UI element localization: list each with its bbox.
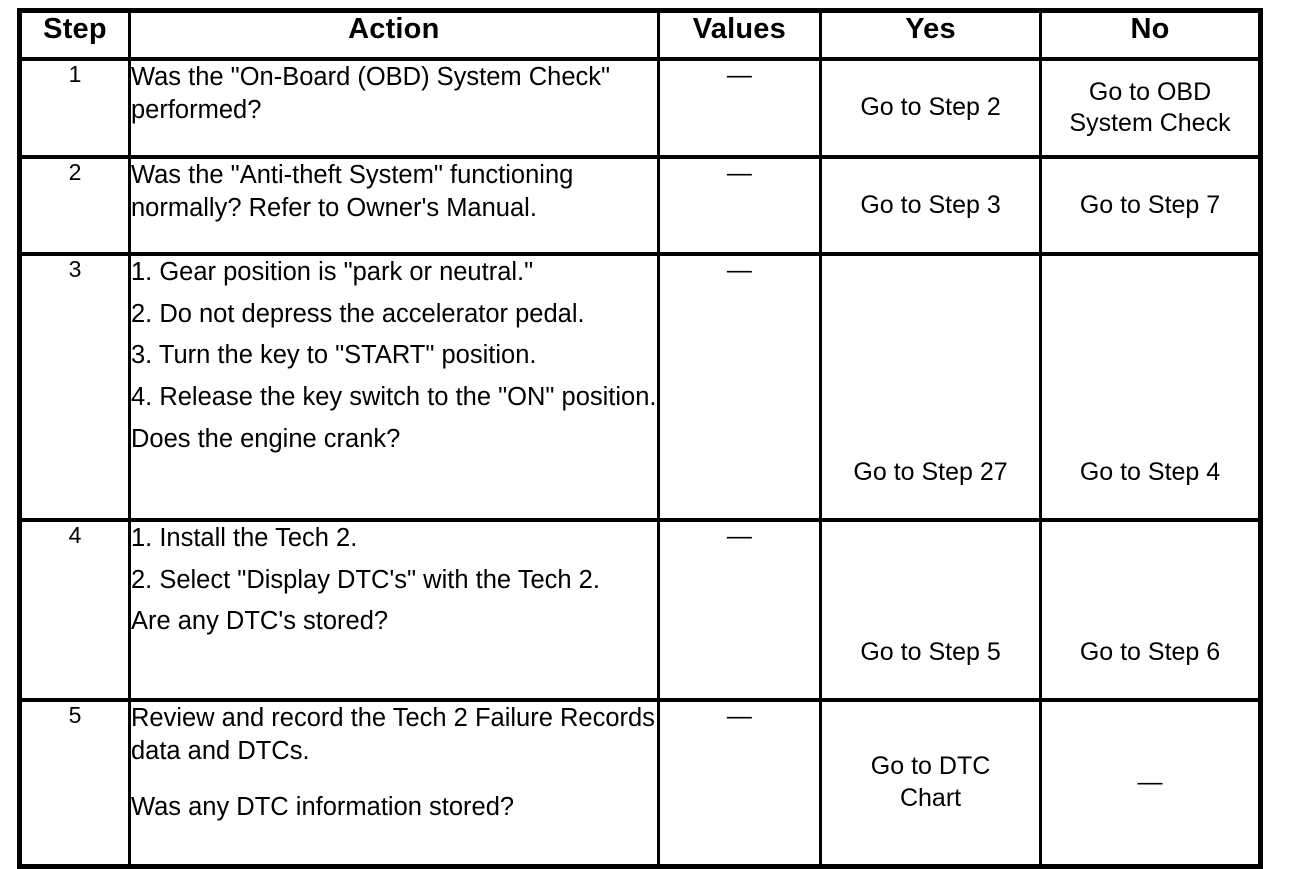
action-text: Was the "Anti-theft System" functioning … [131,159,657,224]
cell-action: Was the "On-Board (OBD) System Check" pe… [129,59,658,157]
cell-values: — [658,254,820,520]
action-step-item: 4. Release the key switch to the "ON" po… [131,381,657,414]
cell-yes-action: Go to Step 27 [821,254,1041,520]
branch-text-line: Chart [822,783,1039,815]
column-header-no: No [1041,11,1261,60]
action-text: Are any DTC's stored? [131,605,657,638]
column-header-yes: Yes [821,11,1041,60]
column-header-action: Action [129,11,658,60]
action-step-item: 1. Gear position is "park or neutral." [131,256,657,289]
cell-no-action: Go to Step 6 [1041,520,1261,700]
action-step-item: 2. Do not depress the accelerator pedal. [131,298,657,331]
cell-values: — [658,157,820,254]
cell-no-action: Go to Step 4 [1041,254,1261,520]
column-header-values: Values [658,11,820,60]
branch-text-line: Go to OBD [1042,77,1258,109]
action-text: Was the "On-Board (OBD) System Check" pe… [131,61,657,126]
cell-yes-action: Go to Step 2 [821,59,1041,157]
cell-step-number: 3 [20,254,130,520]
no-value-dash: — [727,704,752,729]
cell-no-action: — [1041,700,1261,866]
table-row: 31. Gear position is "park or neutral."2… [20,254,1261,520]
header-row: Step Action Values Yes No [20,11,1261,60]
action-text: Does the engine crank? [131,423,657,456]
table-header: Step Action Values Yes No [20,11,1261,60]
cell-yes-action: Go to Step 5 [821,520,1041,700]
no-value-dash: — [727,161,752,186]
column-header-step: Step [20,11,130,60]
table-body: 1Was the "On-Board (OBD) System Check" p… [20,59,1261,866]
no-value-dash: — [727,63,752,88]
cell-step-number: 5 [20,700,130,866]
cell-yes-action: Go to DTCChart [821,700,1041,866]
action-step-item: 1. Install the Tech 2. [131,522,657,555]
action-text: Review and record the Tech 2 Failure Rec… [131,702,657,767]
cell-yes-action: Go to Step 3 [821,157,1041,254]
diagnostic-steps-table: Step Action Values Yes No 1Was the "On-B… [17,8,1263,869]
cell-action: 1. Gear position is "park or neutral."2.… [129,254,658,520]
no-value-dash: — [727,258,752,283]
no-value-dash: — [727,524,752,549]
action-step-item: 3. Turn the key to "START" position. [131,339,657,372]
page-canvas: Step Action Values Yes No 1Was the "On-B… [0,0,1312,864]
action-text: Was any DTC information stored? [131,791,657,824]
cell-no-action: Go to OBDSystem Check [1041,59,1261,157]
cell-values: — [658,59,820,157]
table-row: 2Was the "Anti-theft System" functioning… [20,157,1261,254]
cell-step-number: 1 [20,59,130,157]
action-step-item: 2. Select "Display DTC's" with the Tech … [131,564,657,597]
table-row: 1Was the "On-Board (OBD) System Check" p… [20,59,1261,157]
cell-step-number: 4 [20,520,130,700]
cell-step-number: 2 [20,157,130,254]
branch-text-line: Go to DTC [822,751,1039,783]
cell-no-action: Go to Step 7 [1041,157,1261,254]
branch-text-line: System Check [1042,108,1258,140]
cell-action: 1. Install the Tech 2.2. Select "Display… [129,520,658,700]
table-row: 5Review and record the Tech 2 Failure Re… [20,700,1261,866]
table-row: 41. Install the Tech 2.2. Select "Displa… [20,520,1261,700]
cell-values: — [658,700,820,866]
cell-action: Review and record the Tech 2 Failure Rec… [129,700,658,866]
cell-action: Was the "Anti-theft System" functioning … [129,157,658,254]
cell-values: — [658,520,820,700]
